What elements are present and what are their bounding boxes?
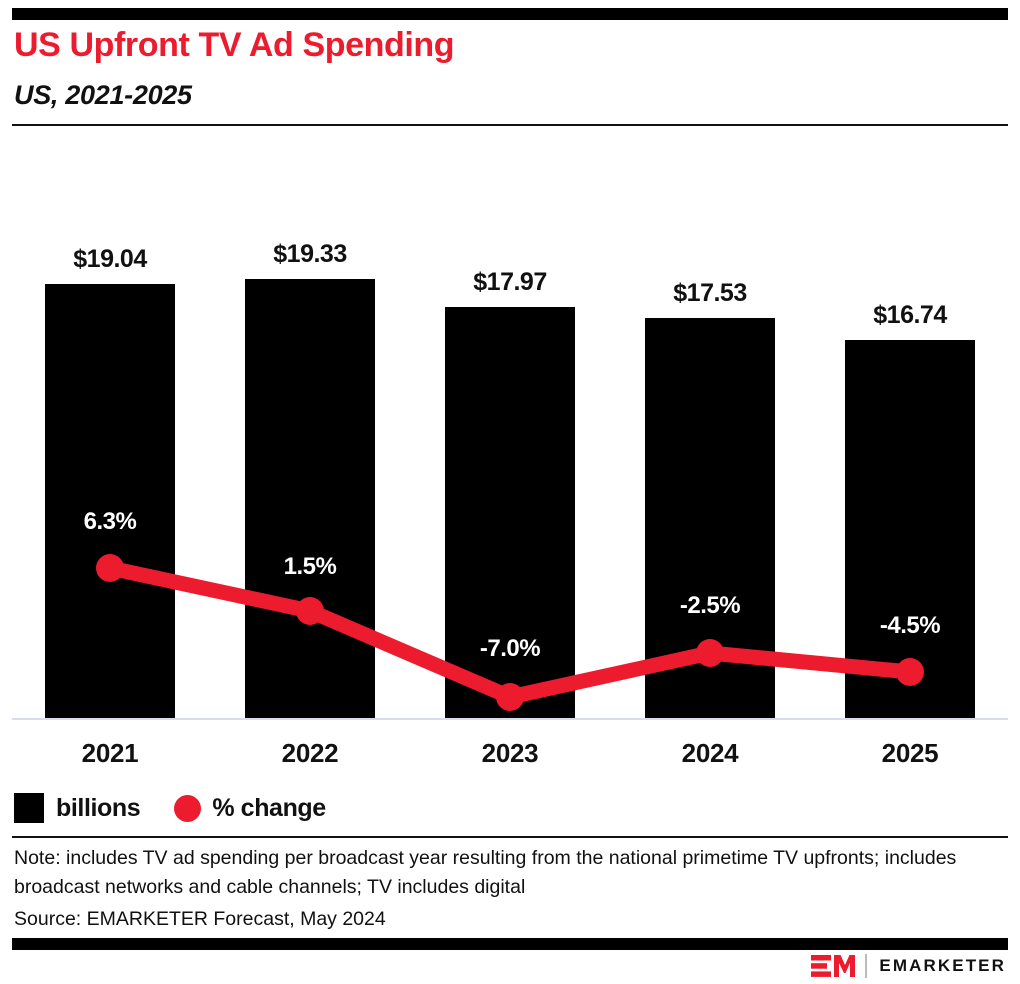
legend-label-percent-change: % change [212,794,326,823]
chart-plot-area: $19.04 $19.33 $17.97 $17.53 $16.74 6.3% … [0,0,1020,760]
line-marker-2022 [296,597,324,625]
bottom-divider [12,938,1008,950]
axis-baseline [12,718,1008,720]
chart-page: US Upfront TV Ad Spending US, 2021-2025 … [0,0,1020,984]
legend-circle-icon [174,795,201,822]
line-marker-2021 [96,554,124,582]
pct-label-2022: 1.5% [225,553,395,581]
x-tick-2023: 2023 [425,738,595,769]
line-marker-2025 [896,658,924,686]
brand-name: EMARKETER [879,956,1006,976]
legend-item-billions[interactable]: billions [14,793,140,823]
pct-label-2024: -2.5% [625,592,795,620]
footnote-source: Source: EMARKETER Forecast, May 2024 [14,905,994,934]
pct-label-2025: -4.5% [825,612,995,640]
legend-item-percent-change[interactable]: % change [174,794,326,823]
chart-legend: billions % change [14,788,360,828]
x-tick-2021: 2021 [25,738,195,769]
legend-label-billions: billions [56,794,140,823]
brand-divider [865,954,867,978]
x-tick-2024: 2024 [625,738,795,769]
brand-logo: EMARKETER [811,952,1006,980]
legend-divider [12,836,1008,838]
legend-square-icon [14,793,44,823]
x-tick-2025: 2025 [825,738,995,769]
emarketer-mark-icon [811,954,855,978]
footnote-note: Note: includes TV ad spending per broadc… [14,844,994,902]
line-marker-2024 [696,639,724,667]
line-marker-2023 [496,683,524,711]
pct-label-2023: -7.0% [425,635,595,663]
pct-label-2021: 6.3% [25,508,195,536]
x-tick-2022: 2022 [225,738,395,769]
